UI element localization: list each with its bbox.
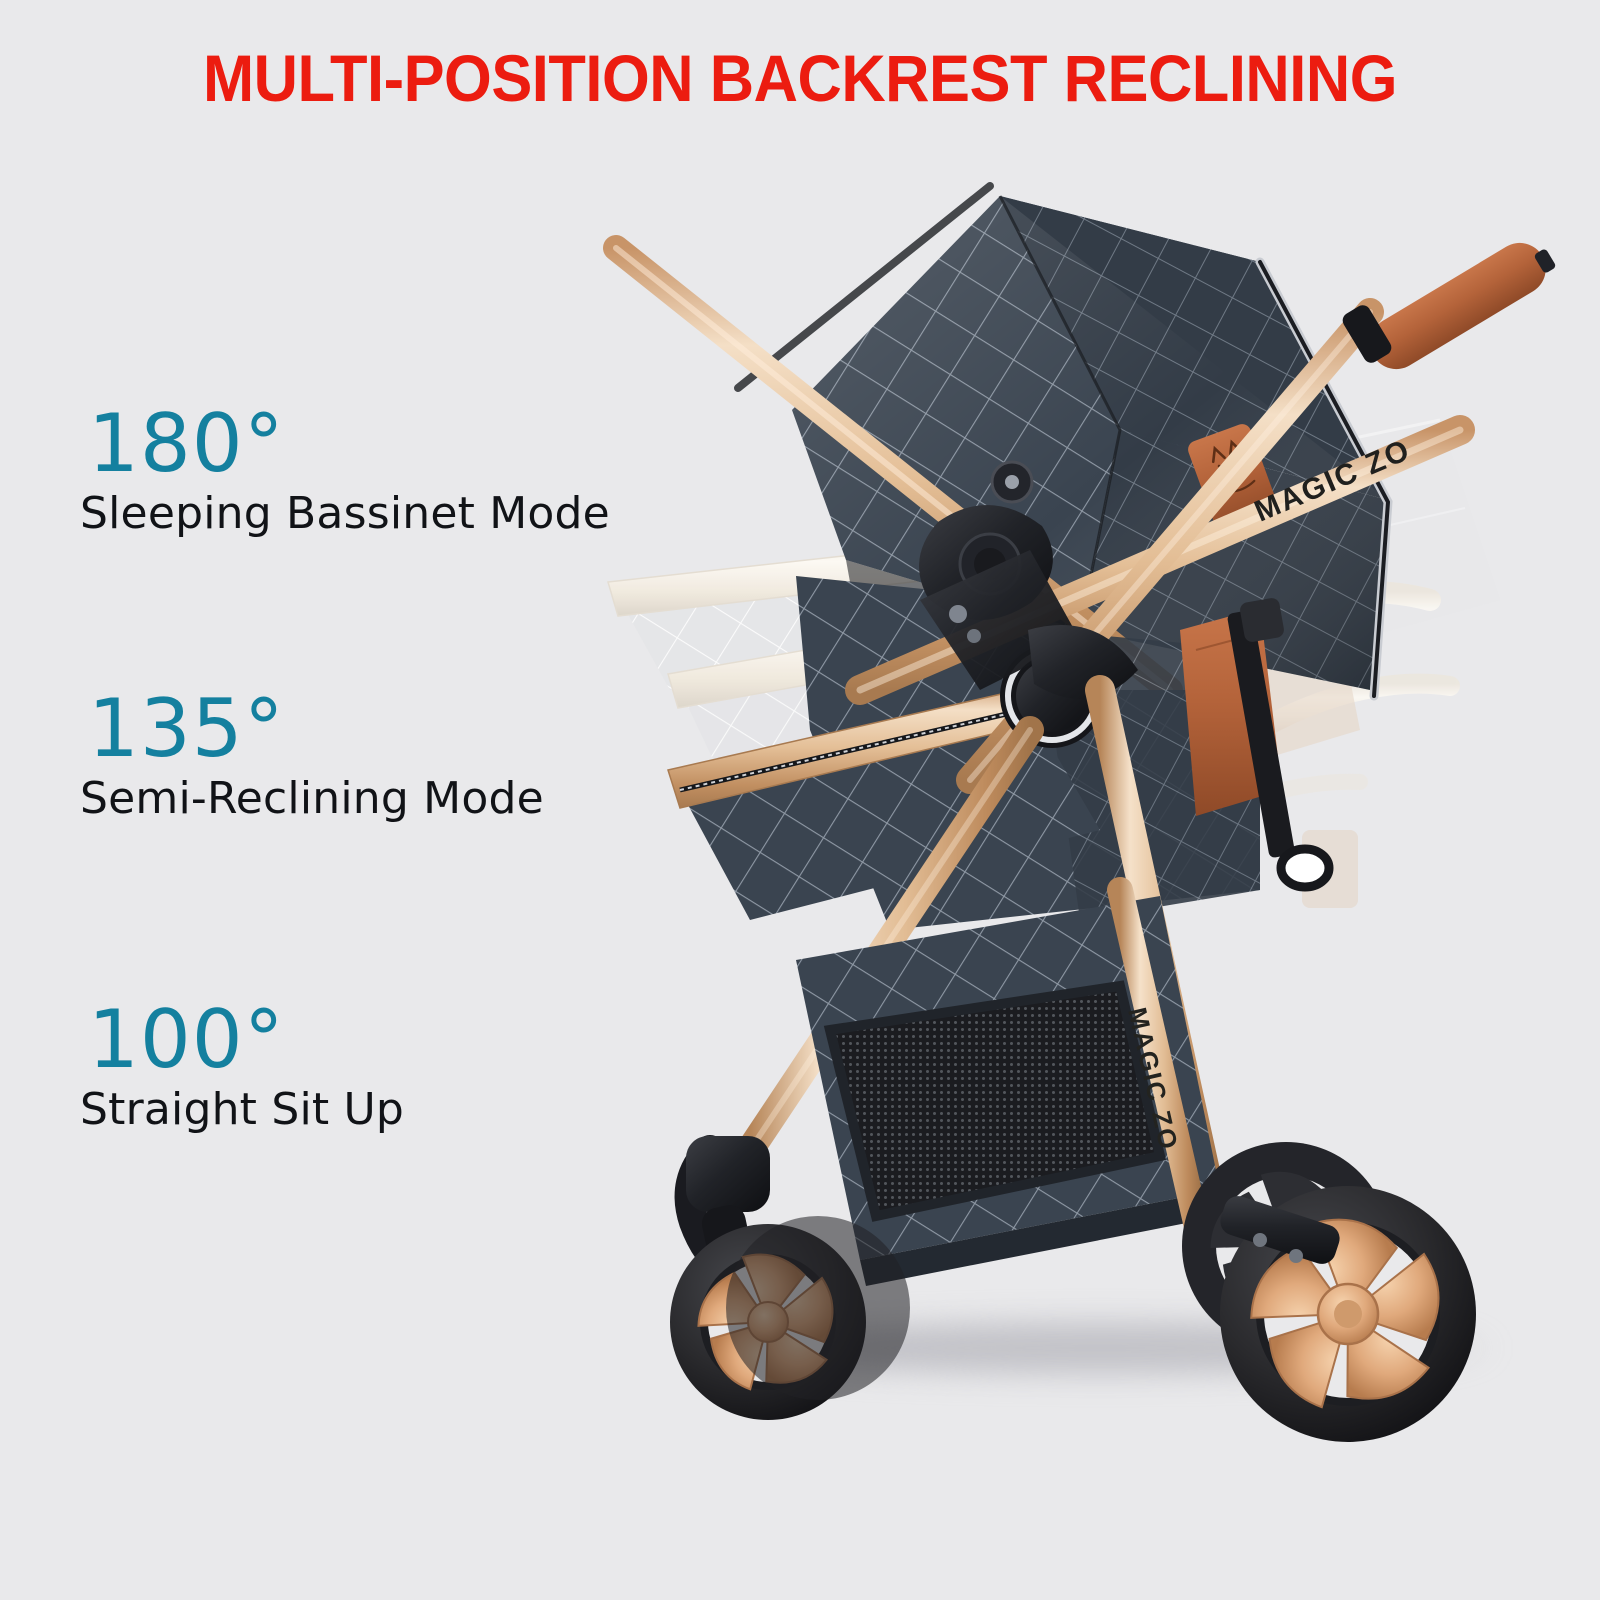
- feature-angle-value: 180°: [80, 406, 640, 483]
- feature-label-text: Straight Sit Up: [80, 1087, 640, 1133]
- feature-angle-value: 100°: [80, 1002, 640, 1079]
- feature-label-text: Sleeping Bassinet Mode: [80, 491, 640, 537]
- feature-angle-value: 135°: [80, 691, 640, 768]
- feature-item-135: 135° Semi-Reclining Mode: [80, 691, 640, 822]
- page-title: MULTI-POSITION BACKREST RECLINING: [56, 44, 1544, 113]
- feature-item-100: 100° Straight Sit Up: [80, 1002, 640, 1133]
- product-image: MAGIC ZO: [560, 130, 1600, 1450]
- feature-label-text: Semi-Reclining Mode: [80, 776, 640, 822]
- feature-item-180: 180° Sleeping Bassinet Mode: [80, 406, 640, 537]
- infographic-page: MULTI-POSITION BACKREST RECLINING 180° S…: [0, 0, 1600, 1600]
